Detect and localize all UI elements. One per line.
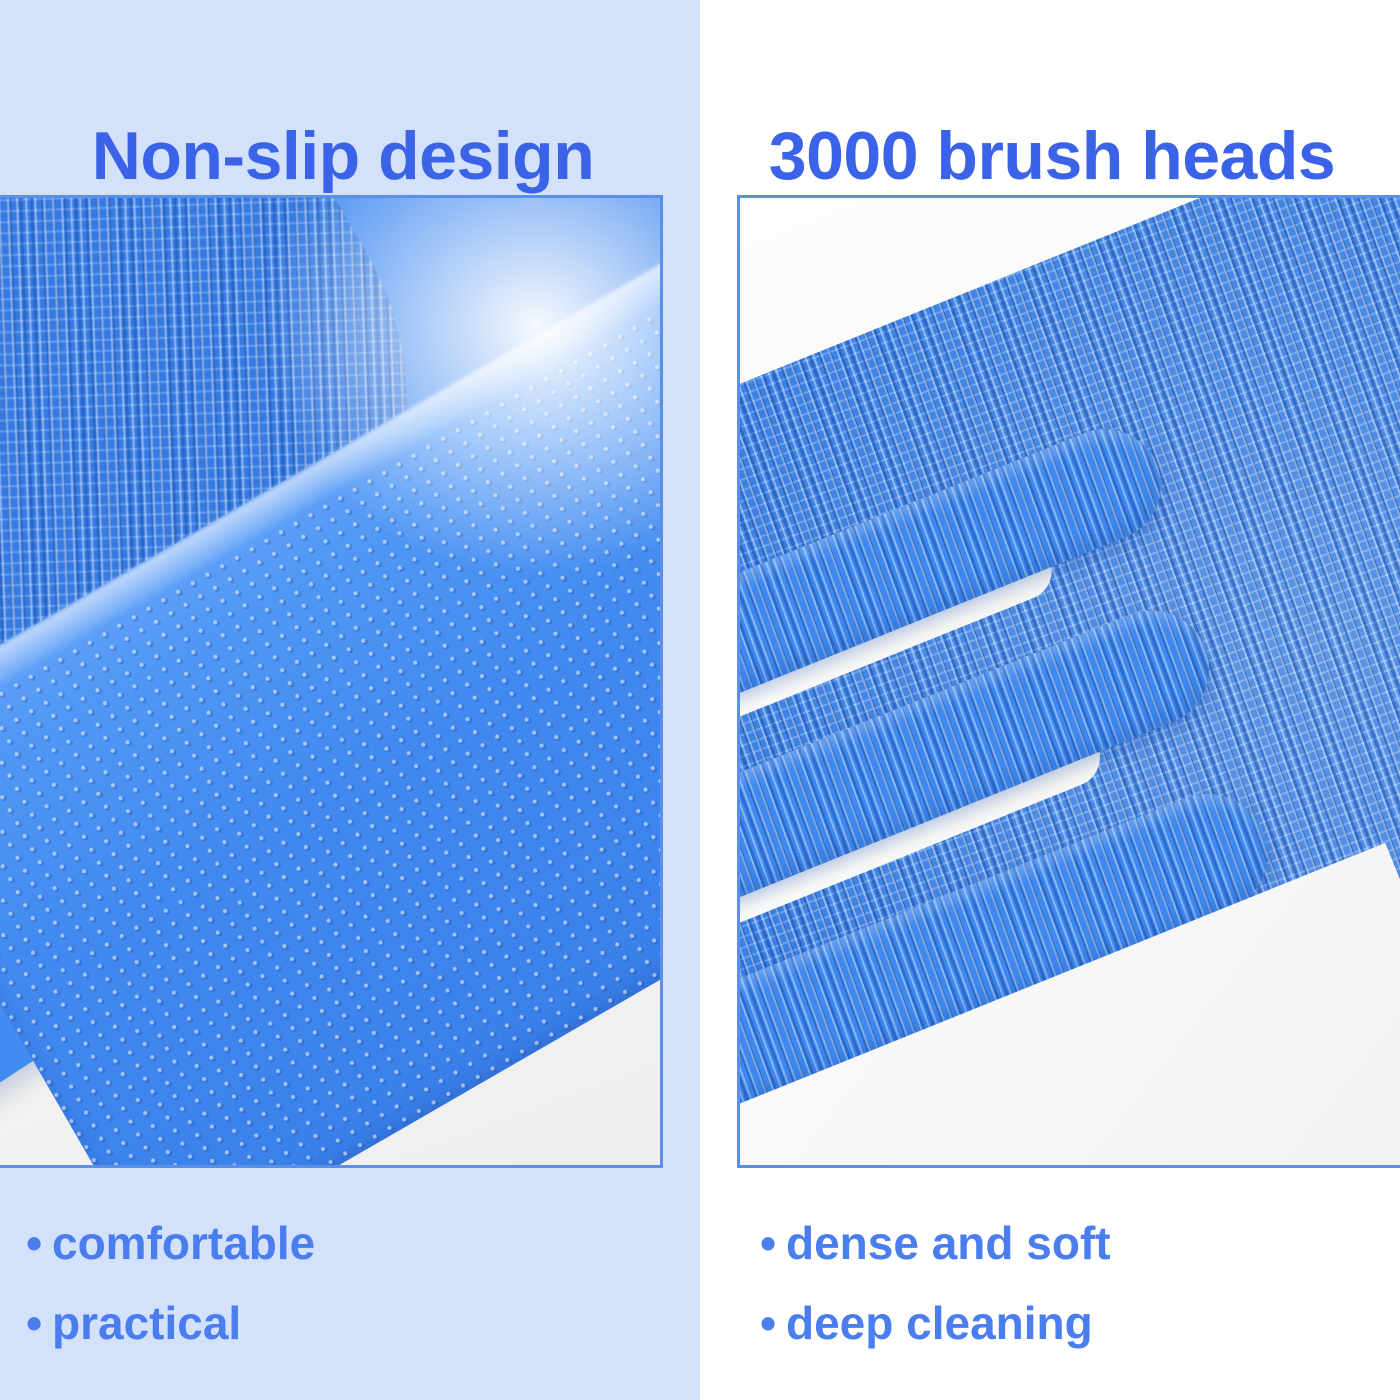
feature-bullets-non-slip: • comfortable • practical xyxy=(26,1216,315,1376)
list-item: • deep cleaning xyxy=(760,1296,1111,1376)
bullet-label: deep cleaning xyxy=(786,1296,1093,1350)
panel-brush-heads: 3000 brush heads • dense and soft xyxy=(700,0,1400,1400)
panel-heading-non-slip: Non-slip design xyxy=(0,112,700,200)
bullet-dot-icon: • xyxy=(760,1300,786,1346)
photo-inner-brush-heads xyxy=(740,198,1400,1165)
bullet-label: dense and soft xyxy=(786,1216,1111,1270)
bullet-label: practical xyxy=(52,1296,241,1350)
photo-inner-non-slip xyxy=(0,198,660,1165)
list-item: • practical xyxy=(26,1296,315,1376)
product-photo-non-slip xyxy=(0,195,663,1168)
feature-bullets-brush-heads: • dense and soft • deep cleaning xyxy=(760,1216,1111,1376)
list-item: • dense and soft xyxy=(760,1216,1111,1296)
panel-non-slip: Non-slip design • comfortable • practica… xyxy=(0,0,700,1400)
panel-heading-brush-heads: 3000 brush heads xyxy=(700,112,1400,200)
bullet-dot-icon: • xyxy=(26,1300,52,1346)
product-photo-brush-heads xyxy=(737,195,1400,1168)
photo-highlight-glow xyxy=(260,198,660,578)
bullet-label: comfortable xyxy=(52,1216,315,1270)
list-item: • comfortable xyxy=(26,1216,315,1296)
bullet-dot-icon: • xyxy=(760,1220,786,1266)
feature-infographic: Non-slip design • comfortable • practica… xyxy=(0,0,1400,1400)
bullet-dot-icon: • xyxy=(26,1220,52,1266)
